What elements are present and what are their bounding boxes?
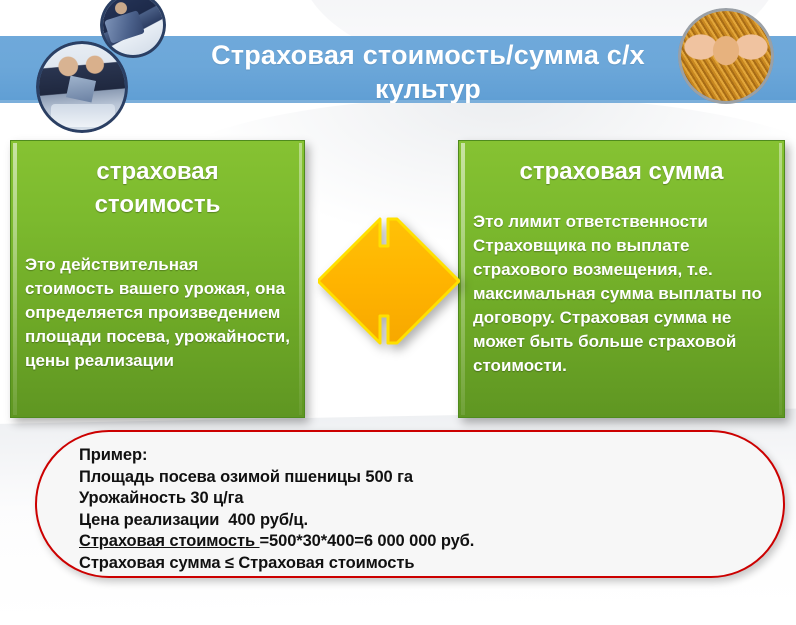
example-line-5-underlined: Страховая стоимость	[79, 532, 260, 550]
business-meeting-photo	[36, 41, 128, 133]
example-line-1: Пример:	[79, 445, 783, 467]
example-line-3: Урожайность 30 ц/га	[79, 488, 783, 510]
page-title: Страховая стоимость/сумма с/х культур	[168, 38, 688, 103]
slide-canvas: Страховая стоимость/сумма с/х культур ст…	[0, 0, 796, 597]
example-line-6: Страховая сумма ≤ Страховая стоимость	[79, 553, 783, 575]
photo-ring	[36, 41, 128, 133]
insurance-sum-body: Это лимит ответственности Страховщика по…	[459, 188, 784, 378]
double-headed-arrow-icon	[318, 208, 460, 354]
insurance-sum-box: страховая сумма Это лимит ответственност…	[458, 140, 785, 418]
example-panel: Пример: Площадь посева озимой пшеницы 50…	[35, 430, 785, 578]
example-line-4: Цена реализации 400 руб/ц.	[79, 510, 783, 532]
example-line-5-formula: =500*30*400=6 000 000 руб.	[260, 532, 475, 550]
insurance-sum-heading: страховая сумма	[459, 141, 784, 188]
example-line-5: Страховая стоимость =500*30*400=6 000 00…	[79, 531, 783, 553]
insurance-value-body: Это действительная стоимость вашего урож…	[11, 221, 304, 373]
insurance-value-heading: страховая стоимость	[11, 141, 304, 221]
photo-ring	[678, 8, 774, 104]
page-title-line-1: Страховая стоимость/сумма с/х	[168, 38, 688, 72]
page-title-line-2: культур	[168, 72, 688, 103]
example-text-block: Пример: Площадь посева озимой пшеницы 50…	[37, 432, 783, 574]
hands-holding-grain-photo	[678, 8, 774, 104]
example-line-2: Площадь посева озимой пшеницы 500 га	[79, 467, 783, 489]
insurance-value-box: страховая стоимость Это действительная с…	[10, 140, 305, 418]
